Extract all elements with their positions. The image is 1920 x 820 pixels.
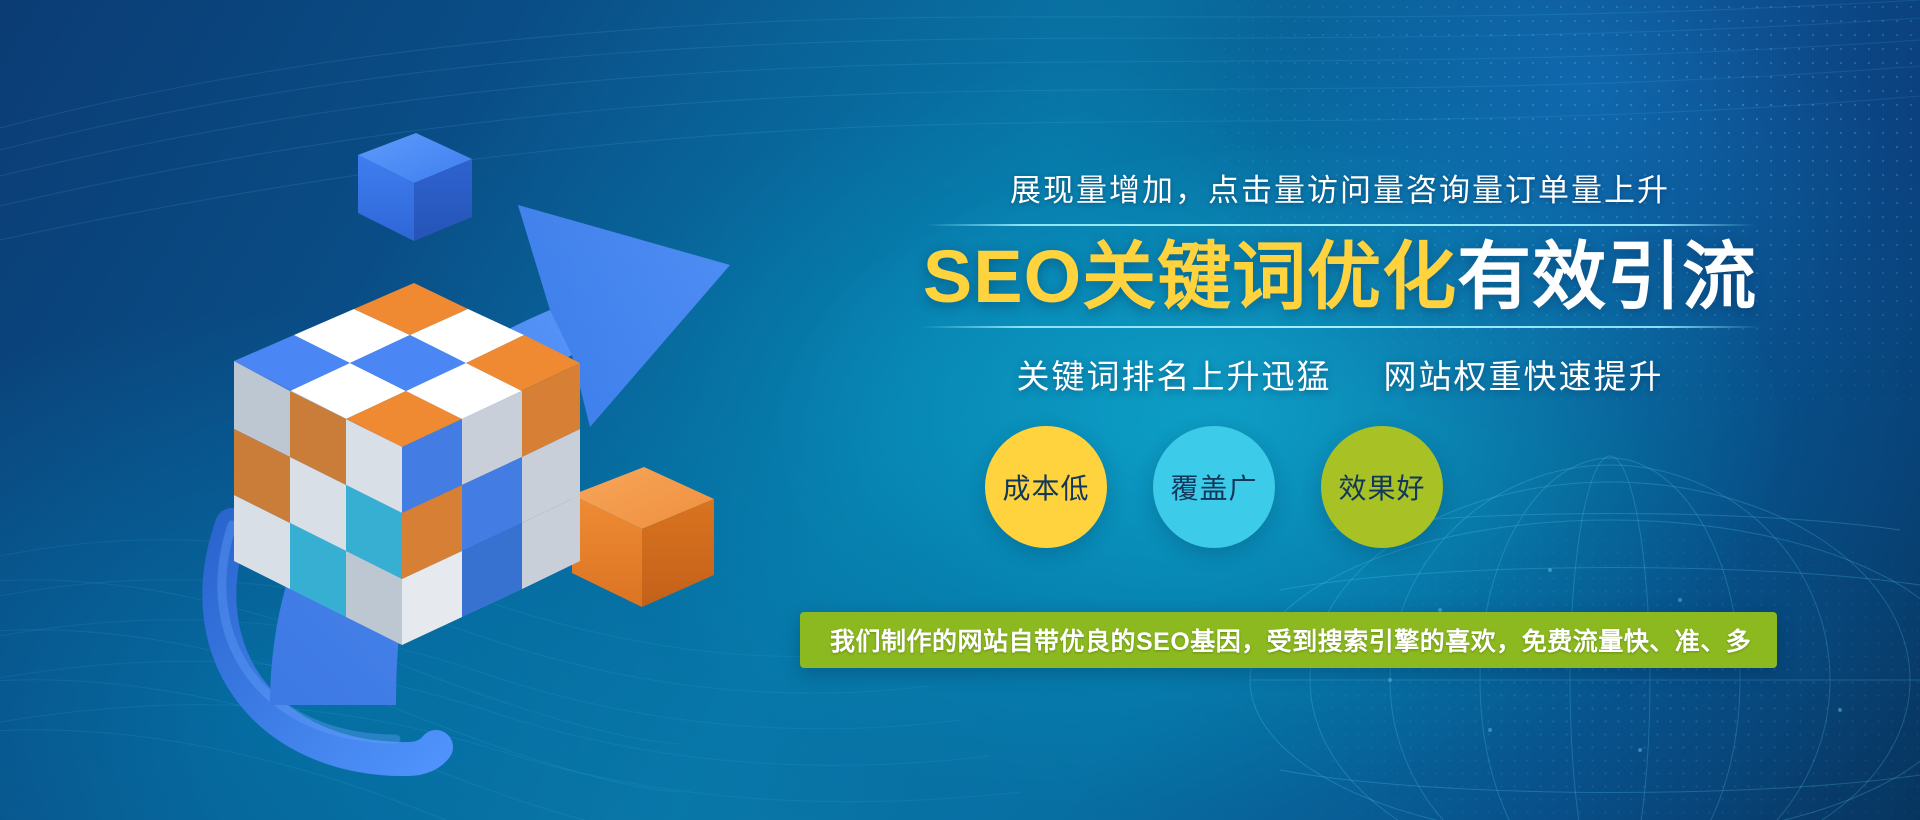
divider-top [925, 224, 1755, 226]
floating-cube-lower [572, 467, 714, 607]
growth-arrow-illustration [120, 55, 840, 795]
subline-left: 关键词排名上升迅猛 [1017, 358, 1332, 395]
badge-coverage[interactable]: 覆盖广 [1153, 426, 1275, 548]
badge-cost[interactable]: 成本低 [985, 426, 1107, 548]
divider-bottom [920, 326, 1760, 328]
subline-right: 网站权重快速提升 [1384, 358, 1664, 395]
seo-promo-banner: 展现量增加，点击量访问量咨询量订单量上升 SEO关键词优化有效引流 关键词排名上… [0, 0, 1920, 820]
subline: 关键词排名上升迅猛网站权重快速提升 [880, 350, 1800, 398]
strip-text: 我们制作的网站自带优良的SEO基因，受到搜索引擎的喜欢，免费流量快、准、多 [830, 622, 1751, 658]
headline-highlight: SEO关键词优化 [923, 235, 1457, 318]
badge-coverage-label: 覆盖广 [1170, 467, 1257, 507]
headline-rest: 有效引流 [1457, 235, 1757, 318]
floating-cube-upper [358, 133, 472, 241]
headline: SEO关键词优化有效引流 [880, 234, 1800, 320]
badge-cost-label: 成本低 [1002, 467, 1089, 507]
value-proposition-strip: 我们制作的网站自带优良的SEO基因，受到搜索引擎的喜欢，免费流量快、准、多 [800, 612, 1777, 668]
badge-result[interactable]: 效果好 [1321, 426, 1443, 548]
tagline: 展现量增加，点击量访问量咨询量订单量上升 [880, 165, 1800, 210]
badge-result-label: 效果好 [1338, 467, 1425, 507]
benefit-badges: 成本低 覆盖广 效果好 [985, 426, 1443, 548]
copy-block: 展现量增加，点击量访问量咨询量订单量上升 SEO关键词优化有效引流 关键词排名上… [880, 165, 1800, 398]
